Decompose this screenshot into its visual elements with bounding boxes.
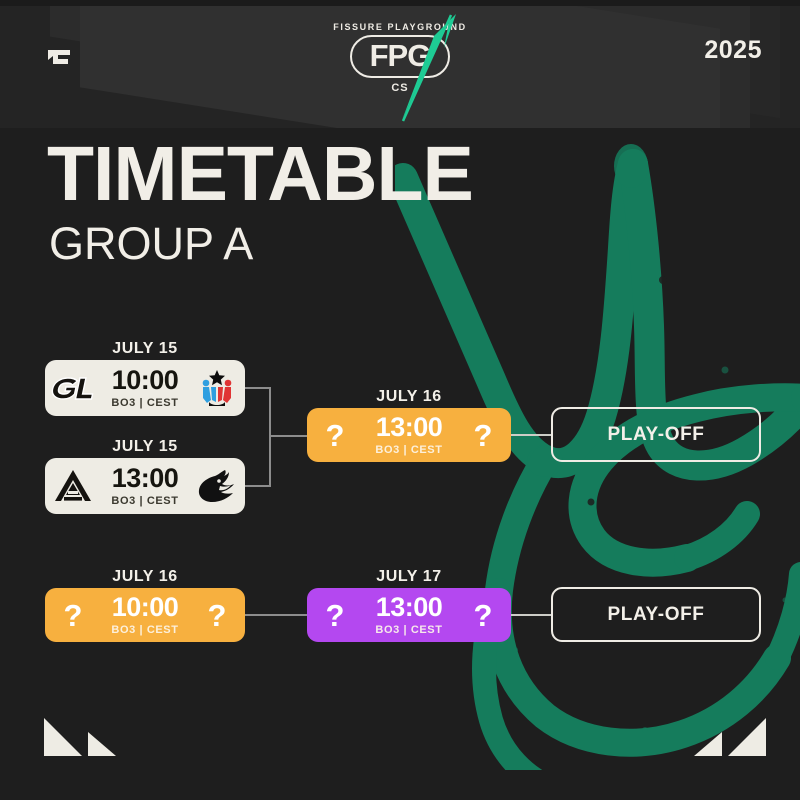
- match-date-m1: JULY 15: [45, 340, 245, 358]
- connector-m2-out: [245, 485, 271, 487]
- tbd-label: ?: [64, 600, 83, 631]
- tbd-label: ?: [474, 600, 493, 631]
- match-format-m4: BO3 | CEST: [101, 624, 189, 636]
- match-info-m5: 13:00 BO3 | CEST: [363, 594, 455, 636]
- connector-into-m3: [269, 435, 307, 437]
- match-time-m5: 13:00: [363, 594, 455, 621]
- match-card-m1[interactable]: 10:00 BO3 | CEST: [45, 360, 245, 416]
- match-time-m3: 13:00: [363, 414, 455, 441]
- connector-m3-to-playoff: [511, 434, 551, 436]
- match-card-m3[interactable]: ? 13:00 BO3 | CEST ?: [307, 408, 511, 462]
- playoff-label: PLAY-OFF: [608, 604, 705, 626]
- match-info-m3: 13:00 BO3 | CEST: [363, 414, 455, 456]
- match-card-m5[interactable]: ? 13:00 BO3 | CEST ?: [307, 588, 511, 642]
- match-card-m4[interactable]: ? 10:00 BO3 | CEST ?: [45, 588, 245, 642]
- tbd-label: ?: [326, 600, 345, 631]
- team-logo-triangle-pyramid-icon: [45, 468, 101, 504]
- team-logo-gamerlegion-gl-icon: [45, 373, 101, 403]
- playoff-box-lower[interactable]: PLAY-OFF: [551, 587, 761, 642]
- bracket: JULY 15 10:00 BO3 | CEST: [0, 0, 800, 800]
- match-info-m2: 13:00 BO3 | CEST: [101, 465, 189, 507]
- playoff-box-upper[interactable]: PLAY-OFF: [551, 407, 761, 462]
- connector-m1-out: [245, 387, 271, 389]
- match-date-m2: JULY 15: [45, 438, 245, 456]
- playoff-label: PLAY-OFF: [608, 424, 705, 446]
- connector-upper-vertical: [269, 387, 271, 487]
- tbd-label: ?: [208, 600, 227, 631]
- match-format-m2: BO3 | CEST: [101, 495, 189, 507]
- match-date-m3: JULY 16: [307, 388, 511, 406]
- team-logo-crown-star-crest-icon: [189, 369, 245, 407]
- tbd-slot-left-m3: ?: [307, 420, 363, 451]
- match-format-m5: BO3 | CEST: [363, 624, 455, 636]
- match-date-m4: JULY 16: [45, 568, 245, 586]
- tbd-slot-left-m5: ?: [307, 600, 363, 631]
- match-time-m4: 10:00: [101, 594, 189, 621]
- timetable-poster: FISSURE PLAYGROUND FPG CS 2025 TIMETABLE…: [0, 0, 800, 800]
- match-time-m1: 10:00: [101, 367, 189, 394]
- match-info-m1: 10:00 BO3 | CEST: [101, 367, 189, 409]
- tbd-slot-right-m4: ?: [189, 600, 245, 631]
- connector-m5-to-playoff: [511, 614, 551, 616]
- tbd-label: ?: [474, 420, 493, 451]
- match-info-m4: 10:00 BO3 | CEST: [101, 594, 189, 636]
- match-time-m2: 13:00: [101, 465, 189, 492]
- match-format-m3: BO3 | CEST: [363, 444, 455, 456]
- tbd-slot-right-m3: ?: [455, 420, 511, 451]
- tbd-label: ?: [326, 420, 345, 451]
- match-format-m1: BO3 | CEST: [101, 397, 189, 409]
- match-card-m2[interactable]: 13:00 BO3 | CEST: [45, 458, 245, 514]
- match-date-m5: JULY 17: [307, 568, 511, 586]
- connector-m4-to-m5: [245, 614, 307, 616]
- tbd-slot-left-m4: ?: [45, 600, 101, 631]
- tbd-slot-right-m5: ?: [455, 600, 511, 631]
- team-logo-panther-head-icon: [189, 467, 245, 505]
